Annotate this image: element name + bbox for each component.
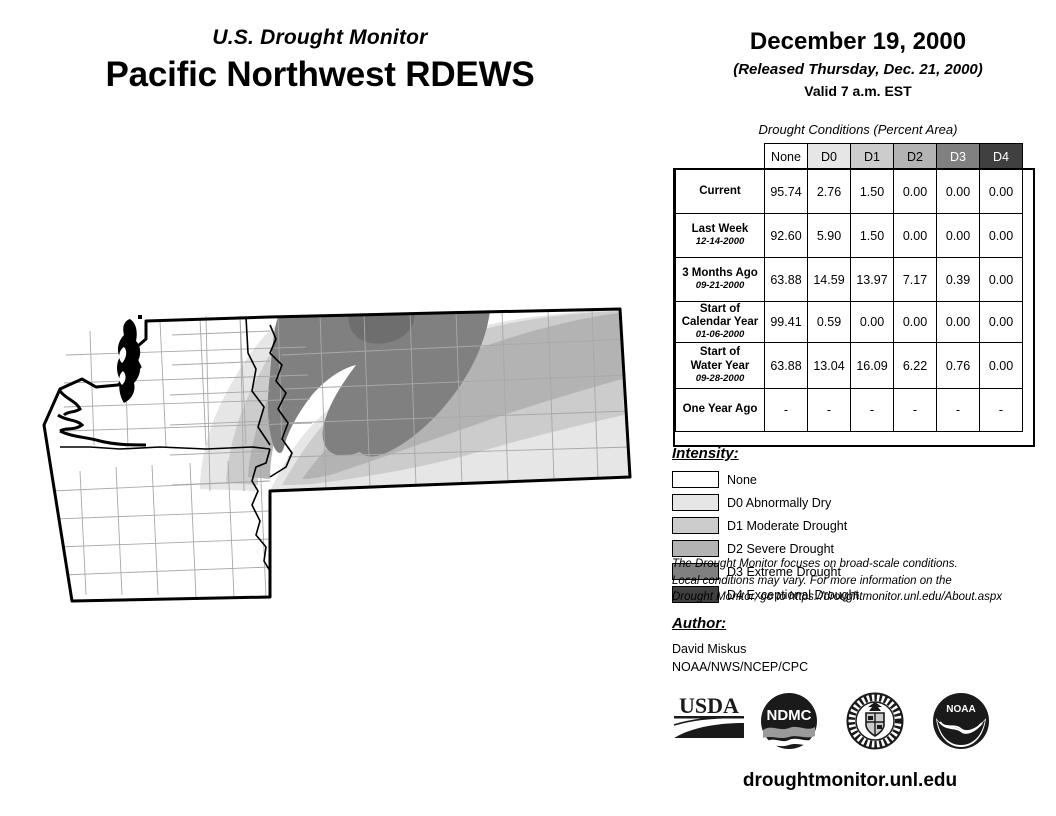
cell-d0: 0.59 [808, 302, 851, 343]
table-row: Start ofCalendar Year01-06-200099.410.59… [676, 302, 1023, 343]
row-date: 01-06-2000 [676, 330, 764, 341]
cell-d1: 13.97 [851, 258, 894, 302]
legend-item: D1 Moderate Drought [672, 514, 847, 537]
author-heading: Author: [672, 615, 726, 632]
column-header-none: None [765, 144, 808, 170]
author-name: David Miskus [672, 640, 808, 658]
table-header-corner [676, 144, 765, 170]
legend-label: D1 Moderate Drought [727, 519, 847, 533]
table-caption: Drought Conditions (Percent Area) [668, 122, 1048, 137]
column-header-d1: D1 [851, 144, 894, 170]
cell-d4: - [980, 389, 1023, 432]
cell-d1: 16.09 [851, 343, 894, 389]
cell-d2: - [894, 389, 937, 432]
svg-text:USDA: USDA [679, 693, 739, 718]
cell-d2: 0.00 [894, 214, 937, 258]
cell-none: - [765, 389, 808, 432]
table-row: Last Week12-14-200092.605.901.500.000.00… [676, 214, 1023, 258]
cell-d0: 13.04 [808, 343, 851, 389]
cell-d4: 0.00 [980, 170, 1023, 214]
legend-label: None [727, 473, 757, 487]
legend-item: None [672, 468, 847, 491]
column-header-d0: D0 [808, 144, 851, 170]
cell-d4: 0.00 [980, 214, 1023, 258]
column-header-d4: D4 [980, 144, 1023, 170]
coastline-detail [58, 391, 146, 445]
table-row: 3 Months Ago09-21-200063.8814.5913.977.1… [676, 258, 1023, 302]
legend-item: D0 Abnormally Dry [672, 491, 847, 514]
cell-d1: - [851, 389, 894, 432]
cell-d3: - [937, 389, 980, 432]
ndmc-logo: NDMC [760, 692, 818, 750]
table-row: One Year Ago------ [676, 389, 1023, 432]
cell-d3: 0.00 [937, 214, 980, 258]
cell-d3: 0.76 [937, 343, 980, 389]
row-label: 3 Months Ago09-21-2000 [676, 258, 765, 302]
row-label: Last Week12-14-2000 [676, 214, 765, 258]
cell-d0: 14.59 [808, 258, 851, 302]
cell-d2: 6.22 [894, 343, 937, 389]
page-title: Pacific Northwest RDEWS [0, 55, 640, 95]
legend-swatch [672, 494, 719, 511]
cell-d4: 0.00 [980, 258, 1023, 302]
release-date: (Released Thursday, Dec. 21, 2000) [668, 61, 1048, 78]
row-date: 09-28-2000 [676, 374, 764, 385]
cell-d4: 0.00 [980, 343, 1023, 389]
cell-none: 99.41 [765, 302, 808, 343]
row-date: 12-14-2000 [676, 237, 764, 248]
row-label: Start ofCalendar Year01-06-2000 [676, 302, 765, 343]
row-label: Start ofWater Year09-28-2000 [676, 343, 765, 389]
valid-time: Valid 7 a.m. EST [668, 83, 1048, 99]
cell-d2: 7.17 [894, 258, 937, 302]
title-block: U.S. Drought Monitor Pacific Northwest R… [0, 26, 640, 95]
report-header: December 19, 2000 (Released Thursday, De… [668, 28, 1048, 99]
site-url: droughtmonitor.unl.edu [660, 770, 1040, 792]
cell-d2: 0.00 [894, 170, 937, 214]
svg-text:NDMC: NDMC [767, 707, 812, 724]
report-date: December 19, 2000 [668, 28, 1048, 56]
author-affiliation: NOAA/NWS/NCEP/CPC [672, 658, 808, 676]
cell-none: 95.74 [765, 170, 808, 214]
cell-d3: 0.00 [937, 170, 980, 214]
cell-d2: 0.00 [894, 302, 937, 343]
cell-d3: 0.39 [937, 258, 980, 302]
legend-column-left: NoneD0 Abnormally DryD1 Moderate Drought [672, 468, 847, 537]
cell-d1: 0.00 [851, 302, 894, 343]
legend-swatch [672, 471, 719, 488]
cell-d1: 1.50 [851, 214, 894, 258]
cell-none: 63.88 [765, 343, 808, 389]
cell-none: 92.60 [765, 214, 808, 258]
cell-none: 63.88 [765, 258, 808, 302]
logo-strip: USDA NDMC NOAA [660, 692, 1040, 754]
puget-sound [117, 315, 142, 403]
doc-logo [846, 692, 904, 750]
row-label: One Year Ago [676, 389, 765, 432]
cell-d0: - [808, 389, 851, 432]
row-date: 09-21-2000 [676, 281, 764, 292]
column-header-d3: D3 [937, 144, 980, 170]
legend-swatch [672, 517, 719, 534]
intensity-heading: Intensity: [672, 445, 739, 462]
cell-d1: 1.50 [851, 170, 894, 214]
legend-swatch [672, 540, 719, 557]
table-body: Current95.742.761.500.000.000.00Last Wee… [676, 170, 1023, 432]
cell-d0: 5.90 [808, 214, 851, 258]
cell-d3: 0.00 [937, 302, 980, 343]
table-header-row: NoneD0D1D2D3D4 [676, 144, 1023, 170]
page-subtitle: U.S. Drought Monitor [0, 26, 640, 50]
svg-text:NOAA: NOAA [946, 704, 975, 715]
author-block: David Miskus NOAA/NWS/NCEP/CPC [672, 640, 808, 676]
table-row: Start ofWater Year09-28-200063.8813.0416… [676, 343, 1023, 389]
cell-d4: 0.00 [980, 302, 1023, 343]
noaa-logo: NOAA [932, 692, 990, 750]
legend-label: D0 Abnormally Dry [727, 496, 831, 510]
drought-conditions-table: NoneD0D1D2D3D4 Current95.742.761.500.000… [675, 143, 1023, 432]
usda-logo: USDA [670, 692, 748, 744]
table-row: Current95.742.761.500.000.000.00 [676, 170, 1023, 214]
legend-label: D2 Severe Drought [727, 542, 834, 556]
row-label: Current [676, 170, 765, 214]
cell-d0: 2.76 [808, 170, 851, 214]
column-header-d2: D2 [894, 144, 937, 170]
disclaimer-text: The Drought Monitor focuses on broad-sca… [672, 556, 1042, 606]
drought-map [20, 295, 640, 625]
